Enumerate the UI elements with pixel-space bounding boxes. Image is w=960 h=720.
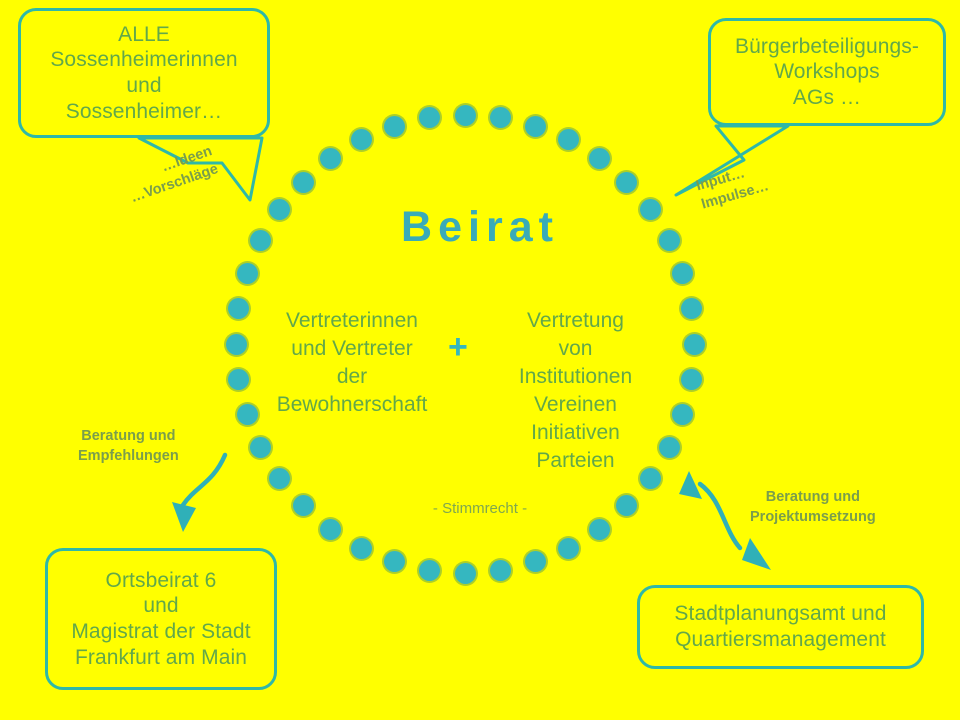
column-institutionen: Vertretung von Institutionen Vereinen In… <box>488 307 663 475</box>
circle-dot <box>351 129 372 150</box>
bubble-workshops-line: AGs … <box>793 85 861 111</box>
bubble-alle-line: ALLE <box>118 22 170 48</box>
column-right-line: Vertretung <box>488 307 663 335</box>
column-right-line: von <box>488 335 663 363</box>
circle-dot <box>455 563 476 584</box>
label-beratung-projektumsetzung: Beratung und Projektumsetzung <box>750 488 876 527</box>
arrow-beratung-empfehlungen <box>172 455 225 532</box>
circle-dot <box>589 519 610 540</box>
column-right-line: Vereinen <box>488 391 663 419</box>
circle-dot <box>351 538 372 559</box>
column-right-line: Initiativen <box>488 419 663 447</box>
box-ortsbeirat-line: und <box>143 593 178 619</box>
column-left-line: Bewohnerschaft <box>262 391 442 419</box>
column-right-line: Parteien <box>488 447 663 475</box>
column-left-line: Vertreterinnen <box>262 307 442 335</box>
circle-dot <box>672 404 693 425</box>
box-ortsbeirat-line: Ortsbeirat 6 <box>106 568 217 594</box>
circle-dot <box>672 263 693 284</box>
bubble-alle-line: Sossenheimer… <box>66 99 223 125</box>
circle-dot <box>589 148 610 169</box>
circle-dot <box>455 105 476 126</box>
circle-dot <box>228 298 249 319</box>
label-beratung-projekt-line: Projektumsetzung <box>750 508 876 528</box>
circle-dot <box>237 404 258 425</box>
circle-dot <box>320 148 341 169</box>
circle-dot <box>684 334 705 355</box>
diagram-canvas: ALLE Sossenheimerinnen und Sossenheimer…… <box>0 0 960 720</box>
column-left-line: der <box>262 363 442 391</box>
box-stadtplanungsamt-quartiersmanagement[interactable]: Stadtplanungsamt und Quartiersmanagement <box>637 585 924 669</box>
column-bewohnerschaft: Vertreterinnen und Vertreter der Bewohne… <box>262 307 442 419</box>
circle-dot <box>525 116 546 137</box>
bubble-alle-sossenheimer[interactable]: ALLE Sossenheimerinnen und Sossenheimer… <box>18 8 270 138</box>
label-ideen-vorschlaege: …Ideen …Vorschläge <box>122 142 221 207</box>
circle-dot <box>558 538 579 559</box>
circle-dot <box>490 107 511 128</box>
column-right-line: Institutionen <box>488 363 663 391</box>
circle-dot <box>681 298 702 319</box>
circle-dot <box>384 551 405 572</box>
diagram-title-beirat: Beirat <box>0 203 960 252</box>
circle-dot <box>237 263 258 284</box>
circle-dot <box>269 468 290 489</box>
box-ortsbeirat-magistrat[interactable]: Ortsbeirat 6 und Magistrat der Stadt Fra… <box>45 548 277 690</box>
circle-dot <box>490 560 511 581</box>
circle-dot <box>226 334 247 355</box>
circle-dot <box>320 519 341 540</box>
bubble-workshops-line: Workshops <box>774 59 880 85</box>
bubble-buergerbeteiligungs-workshops[interactable]: Bürgerbeteiligungs- Workshops AGs … <box>708 18 946 126</box>
box-ortsbeirat-line: Magistrat der Stadt <box>71 619 250 645</box>
column-left-line: und Vertreter <box>262 335 442 363</box>
circle-dot <box>681 369 702 390</box>
box-stadtplanung-line: Stadtplanungsamt und <box>674 601 886 627</box>
circle-dot <box>558 129 579 150</box>
circle-dot <box>228 369 249 390</box>
label-beratung-empfehlungen-line: Beratung und <box>78 427 179 447</box>
circle-dot <box>419 107 440 128</box>
circle-dot <box>525 551 546 572</box>
label-beratung-projekt-line: Beratung und <box>750 488 876 508</box>
label-beratung-empfehlungen: Beratung und Empfehlungen <box>78 427 179 466</box>
bubble-alle-line: Sossenheimerinnen <box>50 47 237 73</box>
circle-dot <box>616 172 637 193</box>
circle-dot <box>419 560 440 581</box>
circle-dot <box>384 116 405 137</box>
plus-icon: + <box>448 328 468 367</box>
bubble-alle-line: und <box>126 73 161 99</box>
box-ortsbeirat-line: Frankfurt am Main <box>75 645 247 671</box>
label-beratung-empfehlungen-line: Empfehlungen <box>78 447 179 467</box>
circle-dot <box>293 172 314 193</box>
box-stadtplanung-line: Quartiersmanagement <box>675 627 886 653</box>
bubble-workshops-line: Bürgerbeteiligungs- <box>735 34 919 60</box>
circle-dot <box>250 437 271 458</box>
